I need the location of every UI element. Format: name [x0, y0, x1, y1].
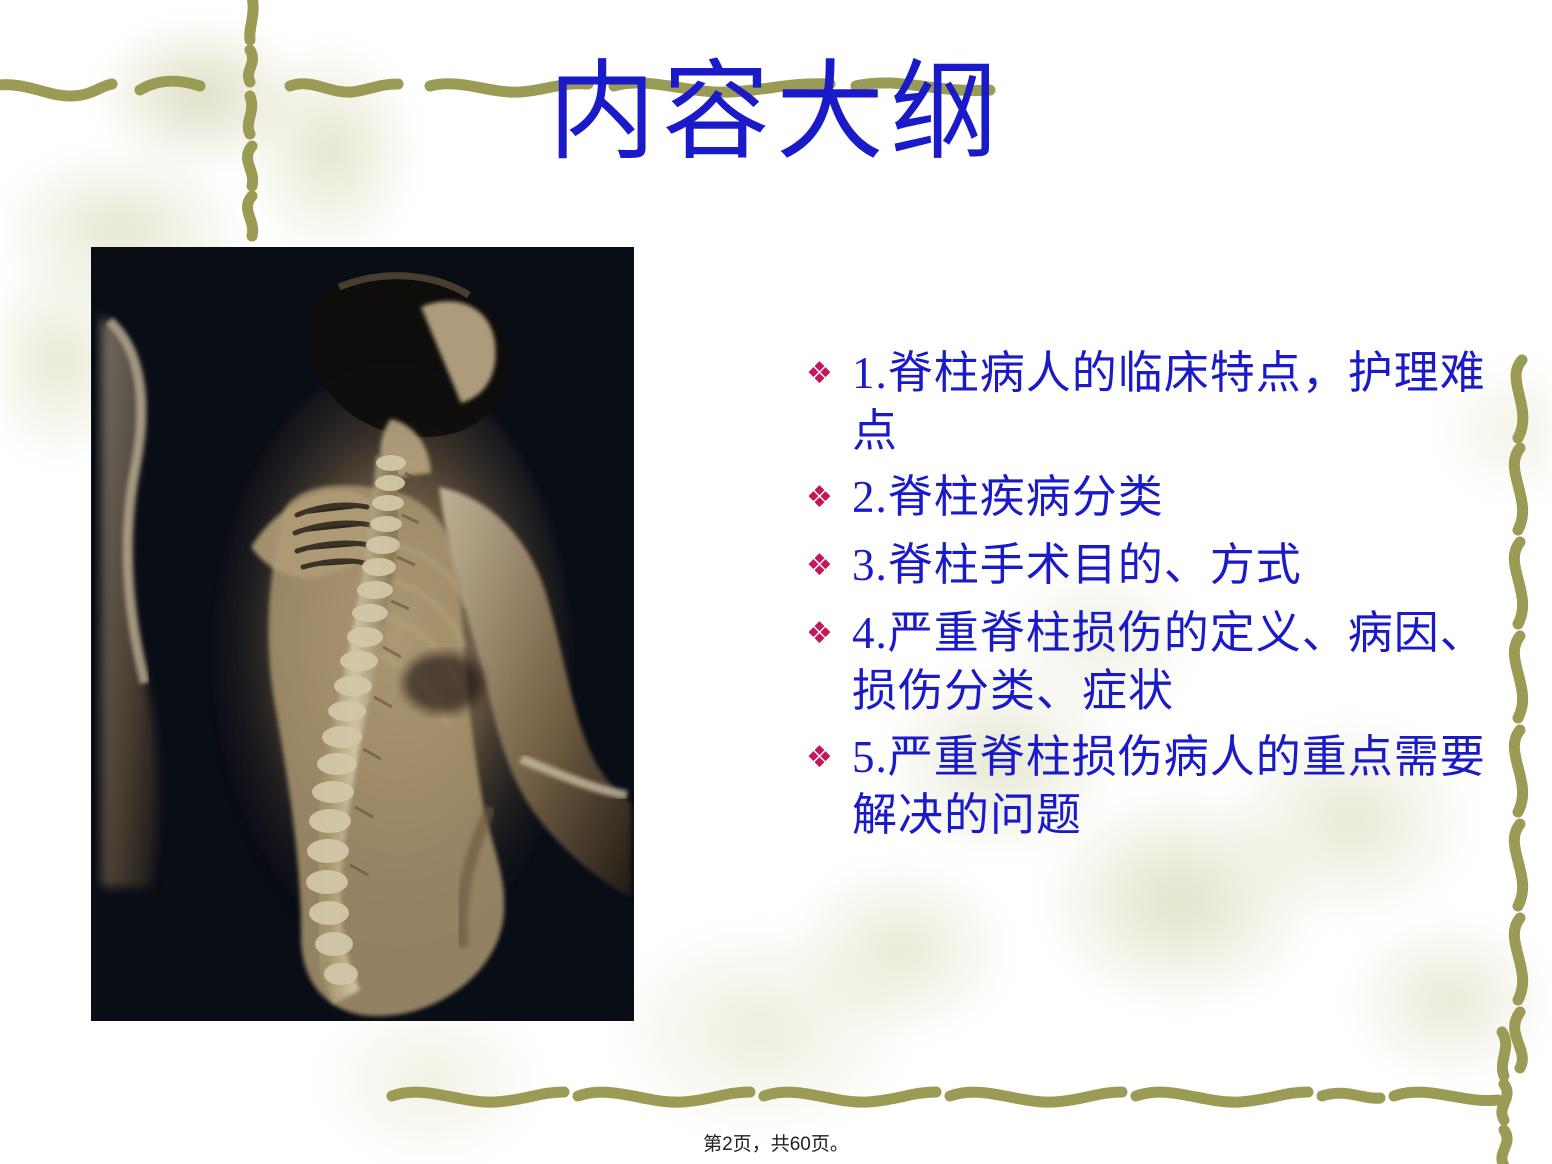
- page-title: 内容大纲: [0, 52, 1552, 176]
- spine-anatomy-photo: [91, 247, 634, 1021]
- outline-item-4-label: 4.严重脊柱损伤的定义、病因、损伤分类、症状: [852, 604, 1490, 720]
- diamond-bullet-icon: ❖: [800, 344, 852, 404]
- slide: 内容大纲: [0, 0, 1552, 1164]
- diamond-bullet-icon: ❖: [800, 536, 852, 596]
- outline-item-2-label: 2.脊柱疾病分类: [852, 468, 1490, 526]
- list-item[interactable]: ❖ 3.脊柱手术目的、方式: [800, 536, 1490, 596]
- outline-item-1-label: 1.脊柱病人的临床特点，护理难点: [852, 344, 1490, 460]
- diamond-bullet-icon: ❖: [800, 728, 852, 788]
- list-item[interactable]: ❖ 2.脊柱疾病分类: [800, 468, 1490, 528]
- page-number-footer: 第2页，共60页。: [0, 1129, 1552, 1156]
- list-item[interactable]: ❖ 4.严重脊柱损伤的定义、病因、损伤分类、症状: [800, 604, 1490, 720]
- outline-list: ❖ 1.脊柱病人的临床特点，护理难点 ❖ 2.脊柱疾病分类 ❖ 3.脊柱手术目的…: [800, 344, 1490, 852]
- list-item[interactable]: ❖ 5.严重脊柱损伤病人的重点需要解决的问题: [800, 728, 1490, 844]
- diamond-bullet-icon: ❖: [800, 604, 852, 664]
- diamond-bullet-icon: ❖: [800, 468, 852, 528]
- outline-item-3-label: 3.脊柱手术目的、方式: [852, 536, 1490, 594]
- list-item[interactable]: ❖ 1.脊柱病人的临床特点，护理难点: [800, 344, 1490, 460]
- outline-item-5-label: 5.严重脊柱损伤病人的重点需要解决的问题: [852, 728, 1490, 844]
- bamboo-vertical-stroke-decoration: [1482, 350, 1552, 1070]
